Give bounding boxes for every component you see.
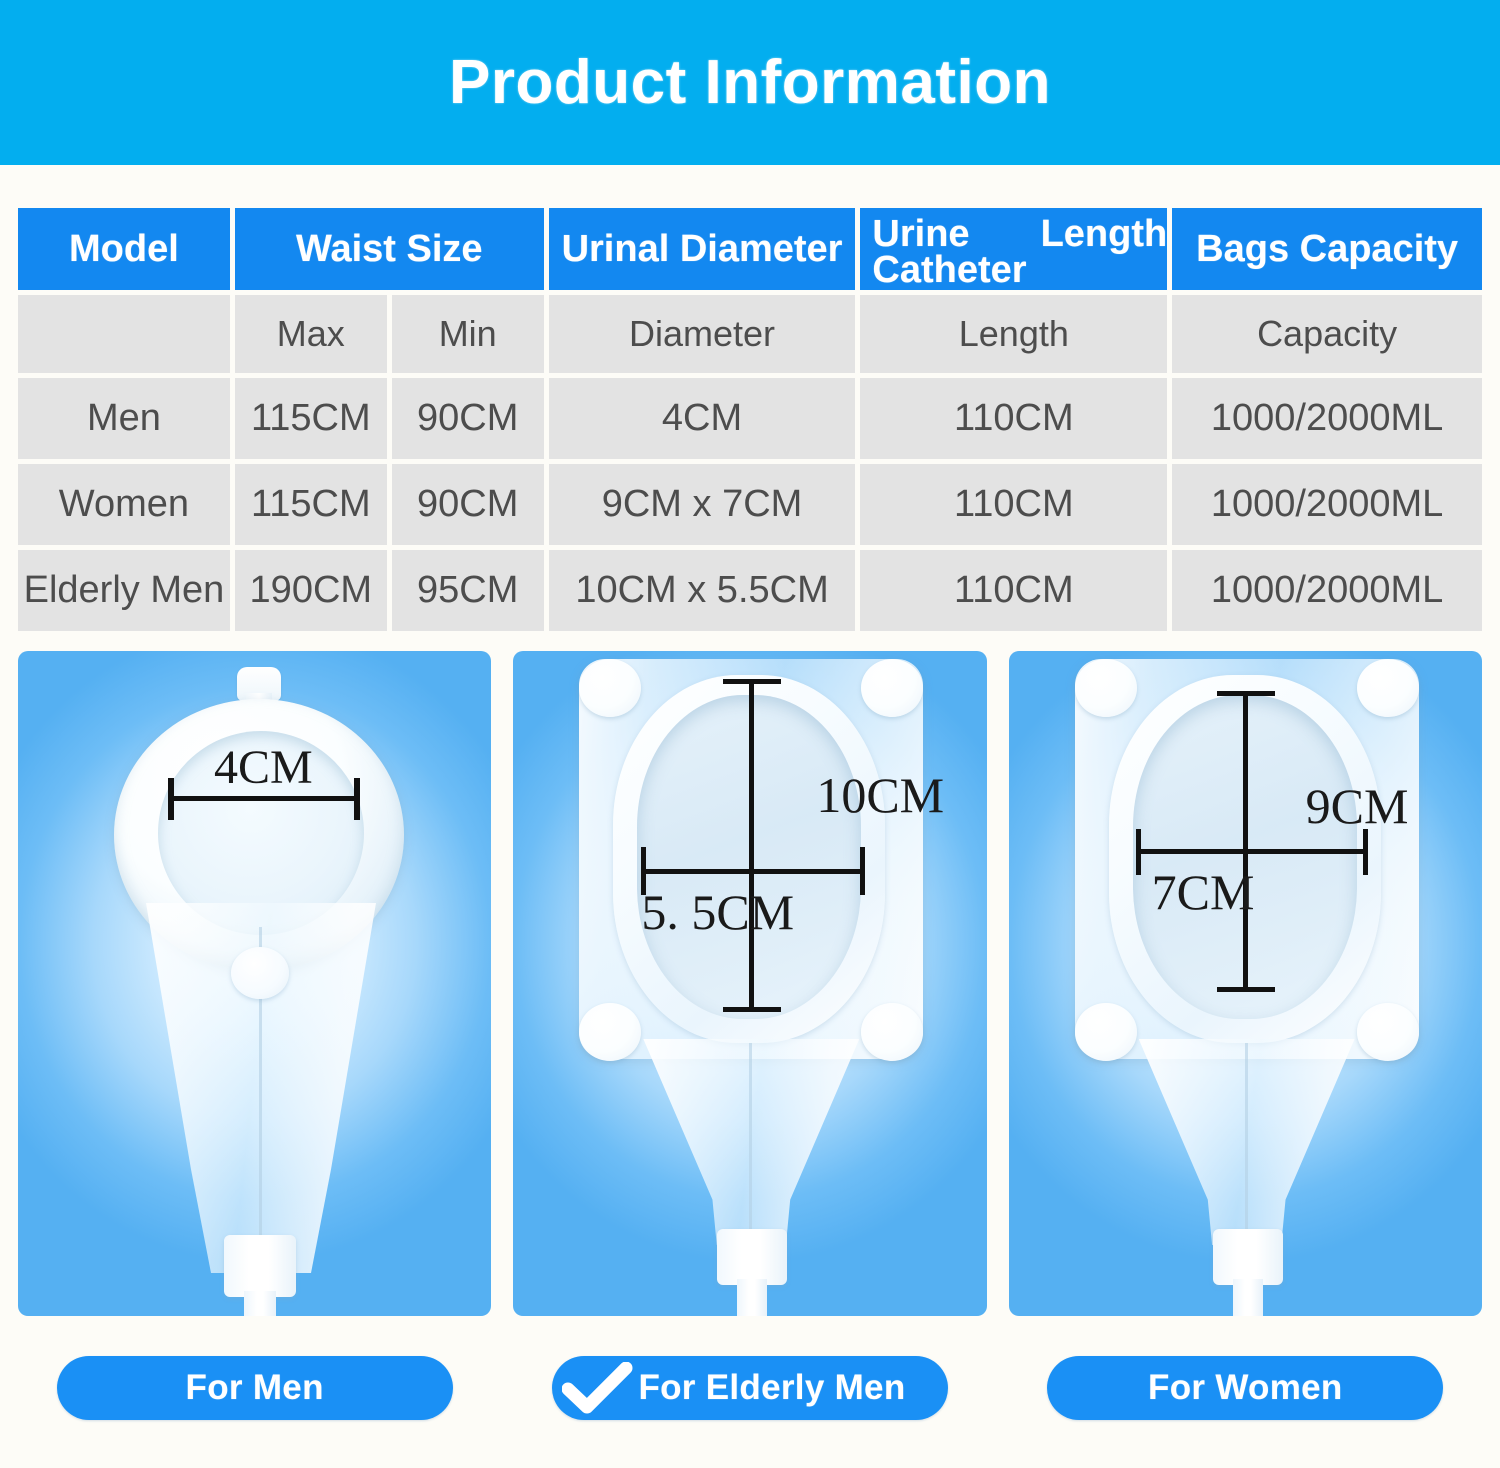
page-title: Product Information bbox=[449, 52, 1051, 114]
cell-model: Men bbox=[18, 378, 230, 459]
height-measure-cap-bottom bbox=[1217, 987, 1275, 992]
product-photo-panels: 4CM 10CM 5. 5CM bbox=[18, 651, 1482, 1316]
urinal-tube bbox=[244, 1291, 276, 1316]
check-icon bbox=[562, 1362, 634, 1414]
height-measure-line bbox=[1243, 693, 1248, 991]
corner-tab-bottom-right bbox=[1357, 1003, 1419, 1061]
variant-label-women: For Women bbox=[1148, 1368, 1343, 1408]
width-measure-cap-right bbox=[860, 847, 865, 895]
corner-tab-bottom-right bbox=[861, 1003, 923, 1061]
width-measure-label: 7CM bbox=[1152, 867, 1255, 917]
urinal-seam bbox=[1245, 1043, 1248, 1239]
cell-catheter-length: 110CM bbox=[860, 464, 1167, 545]
product-photo-elderly-men: 10CM 5. 5CM bbox=[513, 651, 986, 1316]
urinal-seam bbox=[749, 1043, 752, 1239]
variant-button-elderly-men[interactable]: For Elderly Men bbox=[552, 1356, 948, 1420]
product-photo-men: 4CM bbox=[18, 651, 491, 1316]
subheader-min: Min bbox=[392, 295, 544, 373]
diameter-measure-cap-right bbox=[354, 778, 360, 820]
cell-bags-capacity: 1000/2000ML bbox=[1172, 550, 1482, 631]
subheader-capacity: Capacity bbox=[1172, 295, 1482, 373]
height-measure-line bbox=[749, 681, 754, 1011]
cell-waist-max: 190CM bbox=[235, 550, 387, 631]
header-urine-catheter-length: Urine CatheterLength bbox=[860, 208, 1167, 290]
height-measure-cap-bottom bbox=[723, 1007, 781, 1012]
page-banner: Product Information bbox=[0, 0, 1500, 165]
table-row: Men 115CM 90CM 4CM 110CM 1000/2000ML bbox=[18, 378, 1482, 459]
pill-slot-elderly-men: For Elderly Men bbox=[513, 1355, 986, 1421]
subheader-length: Length bbox=[860, 295, 1167, 373]
product-variant-buttons: For Men For Elderly Men For Women bbox=[18, 1355, 1482, 1421]
table-header-row: Model Waist Size Urinal Diameter Urine C… bbox=[18, 208, 1482, 290]
height-measure-cap-top bbox=[1217, 691, 1275, 696]
header-catheter-line1: Urine Catheter bbox=[872, 216, 1040, 288]
cell-model: Women bbox=[18, 464, 230, 545]
variant-label-elderly-men: For Elderly Men bbox=[638, 1368, 905, 1408]
width-measure-label: 5. 5CM bbox=[641, 887, 794, 937]
table-subheader-row: Max Min Diameter Length Capacity bbox=[18, 295, 1482, 373]
urinal-knob bbox=[231, 947, 289, 999]
header-waist-size: Waist Size bbox=[235, 208, 544, 290]
height-measure-cap-top bbox=[723, 679, 781, 684]
header-bags-capacity: Bags Capacity bbox=[1172, 208, 1482, 290]
diameter-measure-label: 4CM bbox=[214, 744, 313, 792]
header-catheter-line2: Length bbox=[1041, 216, 1168, 252]
pill-slot-women: For Women bbox=[1009, 1355, 1482, 1421]
cell-waist-min: 95CM bbox=[392, 550, 544, 631]
urinal-tube bbox=[737, 1279, 767, 1316]
corner-tab-bottom-left bbox=[579, 1003, 641, 1061]
corner-tab-top-left bbox=[579, 659, 641, 717]
specification-table: Model Waist Size Urinal Diameter Urine C… bbox=[18, 208, 1482, 631]
cell-model: Elderly Men bbox=[18, 550, 230, 631]
width-measure-line bbox=[641, 869, 865, 874]
table-row: Women 115CM 90CM 9CM x 7CM 110CM 1000/20… bbox=[18, 464, 1482, 545]
variant-label-men: For Men bbox=[186, 1368, 324, 1408]
corner-tab-top-right bbox=[861, 659, 923, 717]
header-urinal-diameter: Urinal Diameter bbox=[549, 208, 856, 290]
cell-waist-min: 90CM bbox=[392, 464, 544, 545]
product-photo-women: 9CM 7CM bbox=[1009, 651, 1482, 1316]
variant-button-women[interactable]: For Women bbox=[1047, 1356, 1443, 1420]
cell-catheter-length: 110CM bbox=[860, 378, 1167, 459]
subheader-diameter: Diameter bbox=[549, 295, 856, 373]
subheader-max: Max bbox=[235, 295, 387, 373]
table-row: Elderly Men 190CM 95CM 10CM x 5.5CM 110C… bbox=[18, 550, 1482, 631]
corner-tab-bottom-left bbox=[1075, 1003, 1137, 1061]
width-measure-line bbox=[1136, 849, 1368, 854]
urinal-connector bbox=[1213, 1229, 1283, 1285]
cell-waist-min: 90CM bbox=[392, 378, 544, 459]
cell-urinal-diameter: 10CM x 5.5CM bbox=[549, 550, 856, 631]
cell-catheter-length: 110CM bbox=[860, 550, 1167, 631]
width-measure-cap-left bbox=[1136, 829, 1141, 875]
cell-urinal-diameter: 9CM x 7CM bbox=[549, 464, 856, 545]
cell-bags-capacity: 1000/2000ML bbox=[1172, 378, 1482, 459]
corner-tab-top-right bbox=[1357, 659, 1419, 717]
cell-bags-capacity: 1000/2000ML bbox=[1172, 464, 1482, 545]
cell-waist-max: 115CM bbox=[235, 464, 387, 545]
urinal-tube bbox=[1233, 1279, 1263, 1316]
pill-slot-men: For Men bbox=[18, 1355, 491, 1421]
cell-waist-max: 115CM bbox=[235, 378, 387, 459]
height-measure-label: 9CM bbox=[1306, 781, 1409, 831]
variant-button-men[interactable]: For Men bbox=[57, 1356, 453, 1420]
cell-urinal-diameter: 4CM bbox=[549, 378, 856, 459]
corner-tab-top-left bbox=[1075, 659, 1137, 717]
height-measure-label: 10CM bbox=[816, 770, 944, 820]
urinal-connector bbox=[224, 1235, 296, 1297]
subheader-blank bbox=[18, 295, 230, 373]
diameter-measure-line bbox=[168, 796, 360, 801]
urinal-connector bbox=[717, 1229, 787, 1285]
header-model: Model bbox=[18, 208, 230, 290]
diameter-measure-cap-left bbox=[168, 778, 174, 820]
width-measure-cap-right bbox=[1363, 829, 1368, 875]
